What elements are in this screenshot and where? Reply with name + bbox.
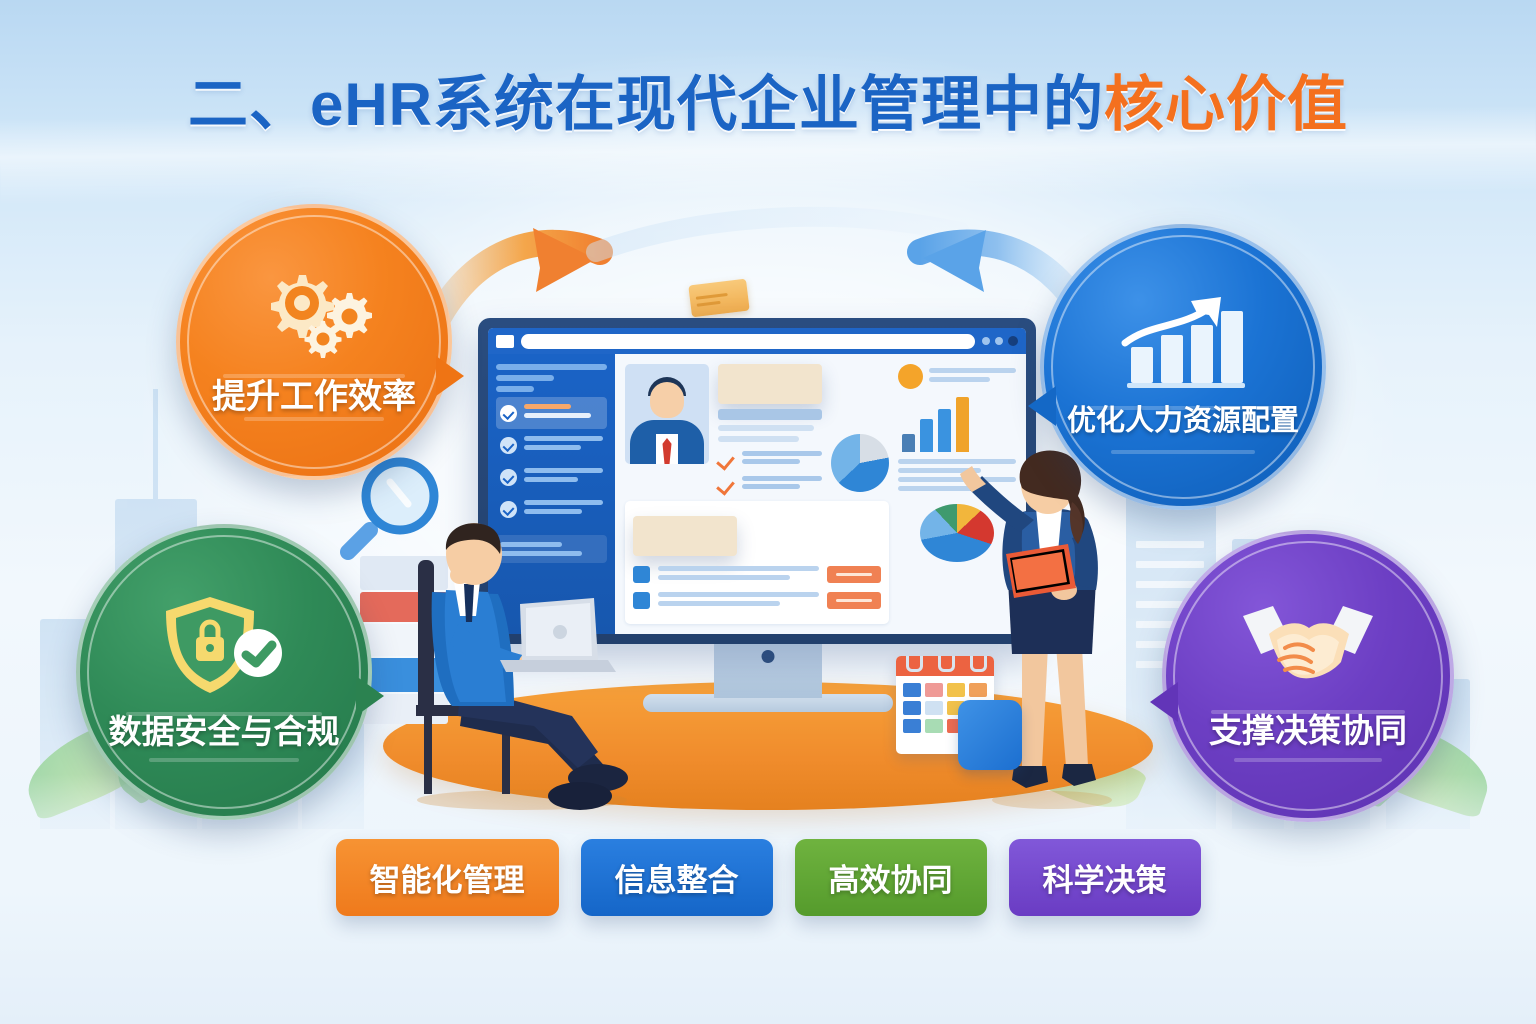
pill-scientific-decision[interactable]: 科学决策 (1009, 839, 1201, 916)
sidebar-header (496, 364, 607, 392)
badge-decision[interactable]: 支撑决策协同 (1162, 530, 1454, 822)
bar-chart-growth-icon (1117, 295, 1249, 391)
briefcase-icon (958, 700, 1022, 770)
sidebar-item-label (524, 436, 603, 454)
browser-toolbar (488, 328, 1026, 354)
badge-label: 优化人力资源配置 (1067, 397, 1299, 439)
shield-lock-icon (158, 591, 290, 699)
handshake-icon (1233, 600, 1383, 698)
badge-resource[interactable]: 优化人力资源配置 (1040, 224, 1326, 510)
window-controls[interactable] (982, 336, 1018, 346)
employee-summary-row (625, 364, 889, 492)
sidebar-item-label (524, 500, 603, 518)
badge-tail (1150, 682, 1178, 722)
check-circle-icon (500, 469, 517, 486)
status-badge (718, 364, 822, 404)
badge-tail (436, 356, 464, 396)
check-circle-icon (500, 501, 517, 518)
pill-information-integration[interactable]: 信息整合 (581, 839, 773, 916)
table-header (633, 516, 737, 556)
maximize-icon[interactable] (995, 337, 1003, 345)
table-row[interactable] (633, 566, 881, 584)
row-action-button[interactable] (827, 566, 881, 583)
dashboard-primary-column (625, 364, 889, 624)
check-circle-icon (500, 437, 517, 454)
sidebar-item-2[interactable] (496, 429, 607, 461)
title-highlight: 核心价值 (1104, 71, 1348, 138)
check-icon (718, 478, 734, 491)
seated-man-figure (402, 520, 642, 810)
table-row[interactable] (633, 592, 881, 610)
check-icon (718, 453, 734, 466)
checklist (718, 451, 822, 492)
sidebar-item-3[interactable] (496, 461, 607, 493)
badge-label: 数据安全与合规 (109, 705, 340, 753)
list-item[interactable] (718, 451, 822, 467)
avatar (625, 364, 709, 464)
sidebar-item-label (524, 468, 603, 486)
badge-label: 支撑决策协同 (1209, 704, 1407, 752)
row-action-button[interactable] (827, 592, 881, 609)
badge-efficiency[interactable]: 提升工作效率 (176, 204, 452, 480)
infographic-canvas: 二、eHR系统在现代企业管理中的核心价值 (0, 0, 1536, 1024)
calendar-rings (906, 656, 987, 672)
browser-tab-icon[interactable] (496, 335, 514, 348)
pie-chart-status (831, 434, 889, 492)
minimize-icon[interactable] (982, 337, 990, 345)
sidebar-item-label (524, 404, 603, 422)
gears-icon (255, 267, 373, 363)
pill-intelligent-management[interactable]: 智能化管理 (336, 839, 559, 916)
page-title: 二、eHR系统在现代企业管理中的核心价值 (0, 72, 1536, 138)
badge-tail (356, 676, 384, 716)
badge-label: 提升工作效率 (212, 369, 416, 418)
list-item[interactable] (718, 476, 822, 492)
close-icon[interactable] (1008, 336, 1018, 346)
bar-chart-trend (898, 396, 1016, 452)
check-circle-icon (500, 405, 517, 422)
address-bar[interactable] (521, 334, 975, 349)
metric-bubble-icon (898, 364, 923, 389)
monitor-led-icon (762, 650, 775, 663)
sidebar-item-1[interactable] (496, 397, 607, 429)
employee-meta (718, 364, 822, 492)
keyword-pill-row: 智能化管理 信息整合 高效协同 科学决策 (0, 839, 1536, 916)
records-table (625, 501, 889, 624)
title-prefix: 二、eHR系统在现代企业管理中的 (188, 71, 1104, 138)
pill-efficient-collaboration[interactable]: 高效协同 (795, 839, 987, 916)
badge-security[interactable]: 数据安全与合规 (76, 524, 372, 820)
badge-tail (1028, 386, 1056, 426)
